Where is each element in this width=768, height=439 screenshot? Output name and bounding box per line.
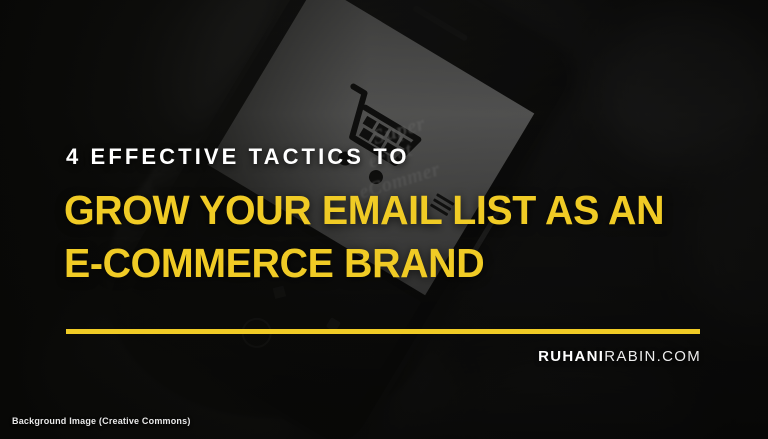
headline-line-1: GROW YOUR EMAIL LIST AS AN [64, 184, 678, 237]
brand-secondary: RABIN.COM [604, 348, 701, 365]
image-credit-caption: Background Image (Creative Commons) [12, 417, 191, 426]
banner-canvas: Super ernet eCommer 4 EFFECTIVE TACTICS … [0, 0, 768, 439]
yellow-rule [66, 329, 700, 334]
eyebrow-text: 4 EFFECTIVE TACTICS TO [66, 146, 410, 168]
brand-primary: RUHANI [538, 348, 604, 365]
headline-line-2: E-COMMERCE BRAND [64, 237, 678, 290]
brand-wordmark: RUHANIRABIN.COM [538, 349, 701, 364]
page-title: GROW YOUR EMAIL LIST AS AN E-COMMERCE BR… [64, 184, 704, 290]
